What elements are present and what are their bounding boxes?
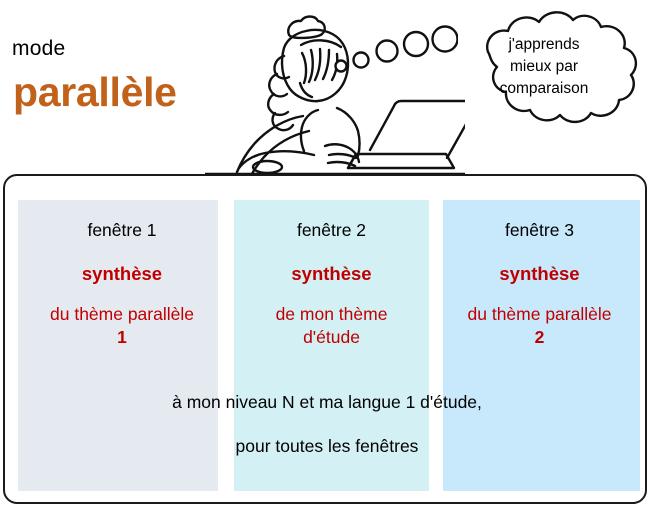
column-2-window-label: fenêtre 2 [234, 220, 429, 241]
column-3-window-label: fenêtre 3 [441, 220, 638, 241]
column-2-desc-line-1: de mon thème [234, 303, 429, 326]
column-2-desc-line-2: d'étude [234, 326, 429, 349]
bubble-line-1: j'apprends [448, 34, 640, 56]
thought-trail-circles-icon [333, 18, 458, 78]
bubble-line-3: comparaison [448, 78, 640, 100]
column-2-description: de mon thème d'étude [234, 303, 429, 350]
header-area: mode parallèle [0, 0, 657, 172]
column-3-desc-line-2: 2 [441, 326, 638, 349]
column-3-synthese-label: synthèse [441, 263, 638, 285]
thought-bubble-text: j'apprends mieux par comparaison [448, 34, 640, 100]
column-1-window-label: fenêtre 1 [22, 220, 222, 241]
bubble-line-2: mieux par [448, 56, 640, 78]
mode-label: mode [12, 38, 65, 59]
page-title: parallèle [13, 72, 177, 113]
column-2-synthese-label: synthèse [234, 263, 429, 285]
window-column-3[interactable]: fenêtre 3 synthèse du thème parallèle 2 [443, 200, 640, 491]
column-3-description: du thème parallèle 2 [441, 303, 638, 350]
column-3-desc-line-1: du thème parallèle [441, 303, 638, 326]
column-1-synthese-label: synthèse [22, 263, 222, 285]
window-column-2[interactable]: fenêtre 2 synthèse de mon thème d'étude [234, 200, 429, 491]
column-1-desc-line-2: 1 [22, 326, 222, 349]
column-1-description: du thème parallèle 1 [22, 303, 222, 350]
window-column-1[interactable]: fenêtre 1 synthèse du thème parallèle 1 [18, 200, 218, 491]
column-1-desc-line-1: du thème parallèle [22, 303, 222, 326]
